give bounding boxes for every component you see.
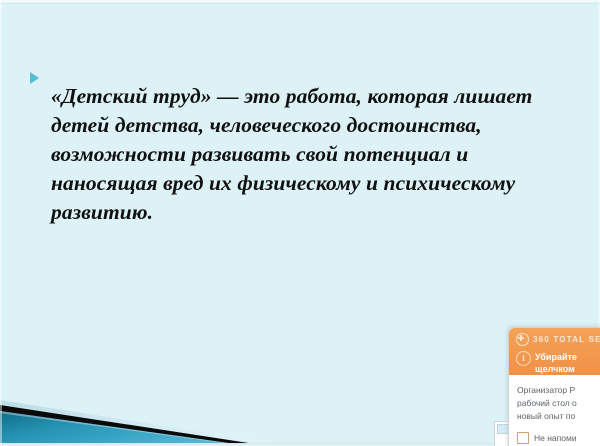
notification-body-line-2: рабочий стол о (517, 397, 600, 410)
360-total-security-notification[interactable]: 360 TOTAL SE i Убирайте щелчком Организа… (508, 327, 600, 446)
presentation-slide: «Детский труд» — это работа, которая лиш… (0, 0, 600, 446)
window-edge-sliver (494, 421, 509, 446)
do-not-remind-checkbox[interactable] (517, 432, 529, 444)
notification-alert-row: i Убирайте щелчком (516, 351, 600, 375)
notification-alert-text: Убирайте щелчком (535, 351, 577, 375)
notification-body-line-3: новый опыт по (517, 410, 600, 423)
notification-alert-line-2: щелчком (535, 364, 575, 374)
notification-header: 360 TOTAL SE i Убирайте щелчком (509, 328, 600, 375)
slide-content-block: «Детский труд» — это работа, которая лиш… (30, 60, 578, 249)
notification-alert-line-1: Убирайте (535, 352, 577, 362)
plus-circle-icon (516, 333, 529, 346)
notification-body-line-1: Организатор Р (517, 384, 600, 397)
slide-left-border (0, 0, 2, 446)
bottom-left-diagonal-ribbon (0, 376, 330, 446)
do-not-remind-row[interactable]: Не напоми (517, 432, 600, 444)
notification-body-text: Организатор Р рабочий стол о новый опыт … (517, 384, 600, 423)
notification-brand-label: 360 TOTAL SE (533, 335, 600, 344)
slide-top-border (0, 0, 600, 4)
slide-body-text: «Детский труд» — это работа, которая лиш… (51, 82, 578, 228)
do-not-remind-label: Не напоми (534, 433, 577, 443)
triangle-right-bullet-icon (30, 72, 39, 84)
notification-body: Организатор Р рабочий стол о новый опыт … (509, 375, 600, 444)
notification-brand-row: 360 TOTAL SE (516, 333, 600, 346)
info-circle-icon: i (516, 351, 531, 366)
